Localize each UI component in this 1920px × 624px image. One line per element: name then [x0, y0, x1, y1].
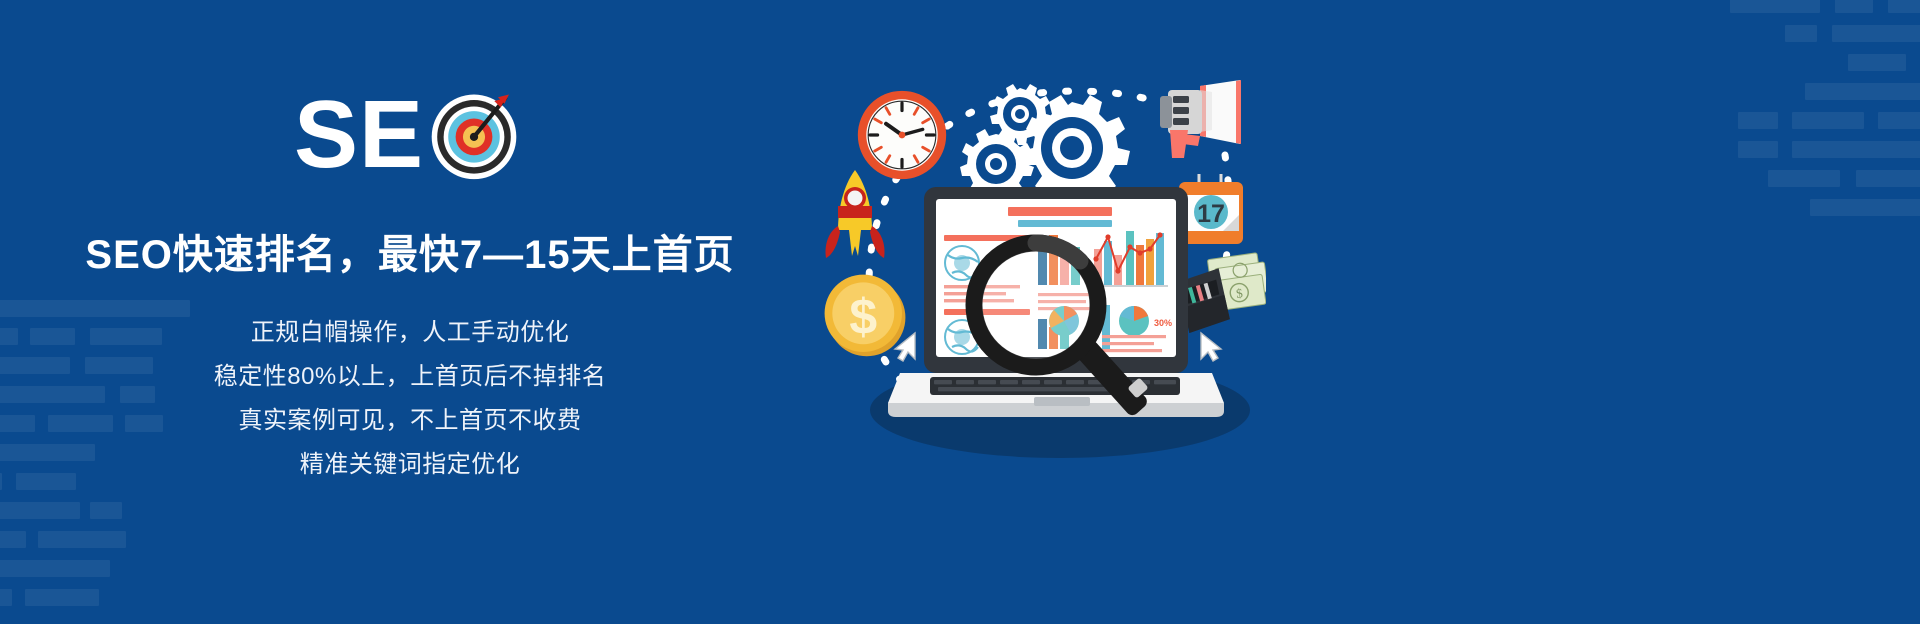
seo-wordmark: SE	[294, 87, 424, 183]
seo-process-illustration: $	[800, 0, 1440, 624]
benefit-item: 精准关键词指定优化	[300, 444, 521, 479]
benefit-item: 稳定性80%以上，上首页后不掉排名	[214, 356, 607, 391]
benefit-item: 真实案例可见，不上首页不收费	[238, 400, 581, 435]
benefit-item: 正规白帽操作，人工手动优化	[251, 312, 570, 347]
page-title: SEO快速排名，最快7—15天上首页	[85, 222, 734, 280]
laptop-icon: 30%	[886, 185, 1226, 435]
seo-promo-banner: SE SEO快速排名，最快7—15天上首页 正规白帽操作，人工手动优化	[0, 0, 1920, 624]
target-bullseye-icon	[428, 89, 520, 181]
background-code-pattern-right	[1620, 0, 1920, 624]
rocket-icon	[822, 168, 888, 268]
pie-percent-label: 30%	[1154, 318, 1172, 328]
banner-text-column: SE SEO快速排名，最快7—15天上首页 正规白帽操作，人工手动优化	[0, 0, 820, 624]
seo-logo: SE	[294, 86, 520, 184]
svg-text:$: $	[849, 289, 877, 345]
cursor-arrow-icon	[892, 330, 920, 364]
benefit-list: 正规白帽操作，人工手动优化 稳定性80%以上，上首页后不掉排名 真实案例可见，不…	[214, 312, 607, 479]
cursor-arrow-icon	[1196, 330, 1224, 364]
megaphone-icon	[1140, 78, 1248, 160]
